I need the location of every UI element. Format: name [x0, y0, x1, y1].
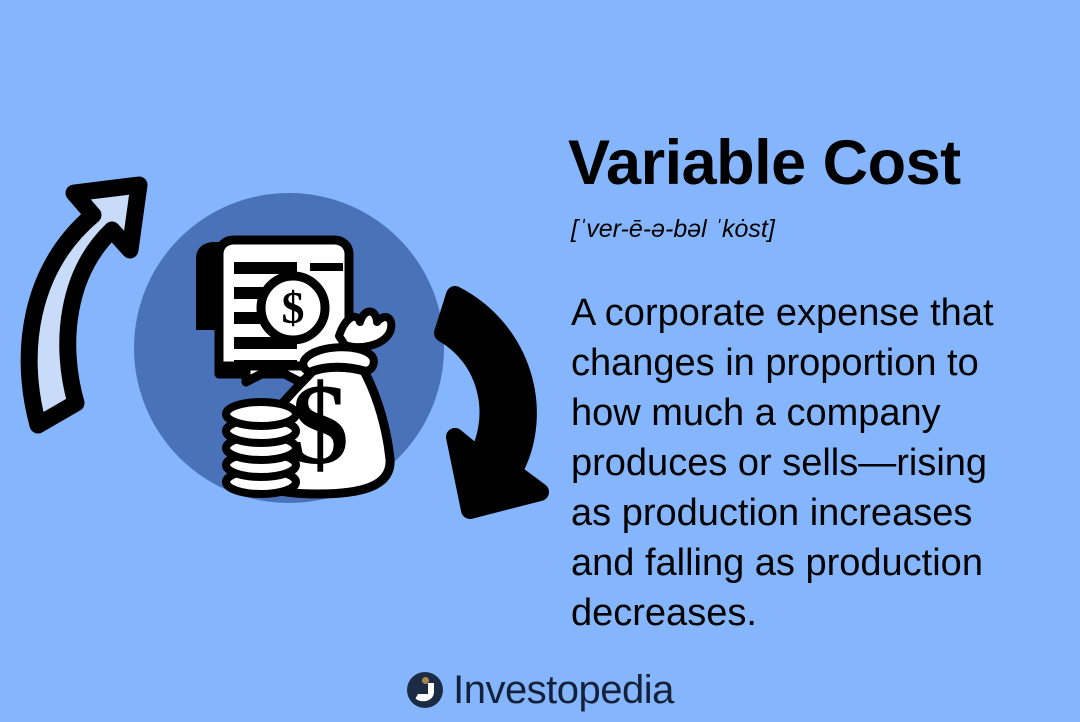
coin-stack-icon — [226, 402, 296, 494]
brand-wordmark: Investopedia — [453, 670, 674, 710]
brand-logo: Investopedia — [0, 670, 1080, 710]
dollar-coin-icon: $ — [261, 276, 325, 340]
svg-text:$: $ — [291, 361, 349, 489]
definition-text: A corporate expense that changes in prop… — [571, 288, 1031, 638]
investopedia-logo-icon — [406, 671, 444, 709]
term-text-column: Variable Cost [ˈver-ē-ə-bəl ˈkȯst] A cor… — [568, 132, 1038, 638]
curved-arrow-up-icon — [29, 185, 139, 425]
illustration-panel: $ $ — [0, 0, 560, 660]
pronunciation-text: [ˈver-ē-ə-bəl ˈkȯst] — [571, 217, 1038, 242]
curved-arrow-down-icon — [443, 295, 540, 510]
page-title: Variable Cost — [568, 132, 1038, 195]
svg-text:$: $ — [282, 282, 305, 333]
infographic-card: $ $ Variable — [0, 0, 1080, 722]
